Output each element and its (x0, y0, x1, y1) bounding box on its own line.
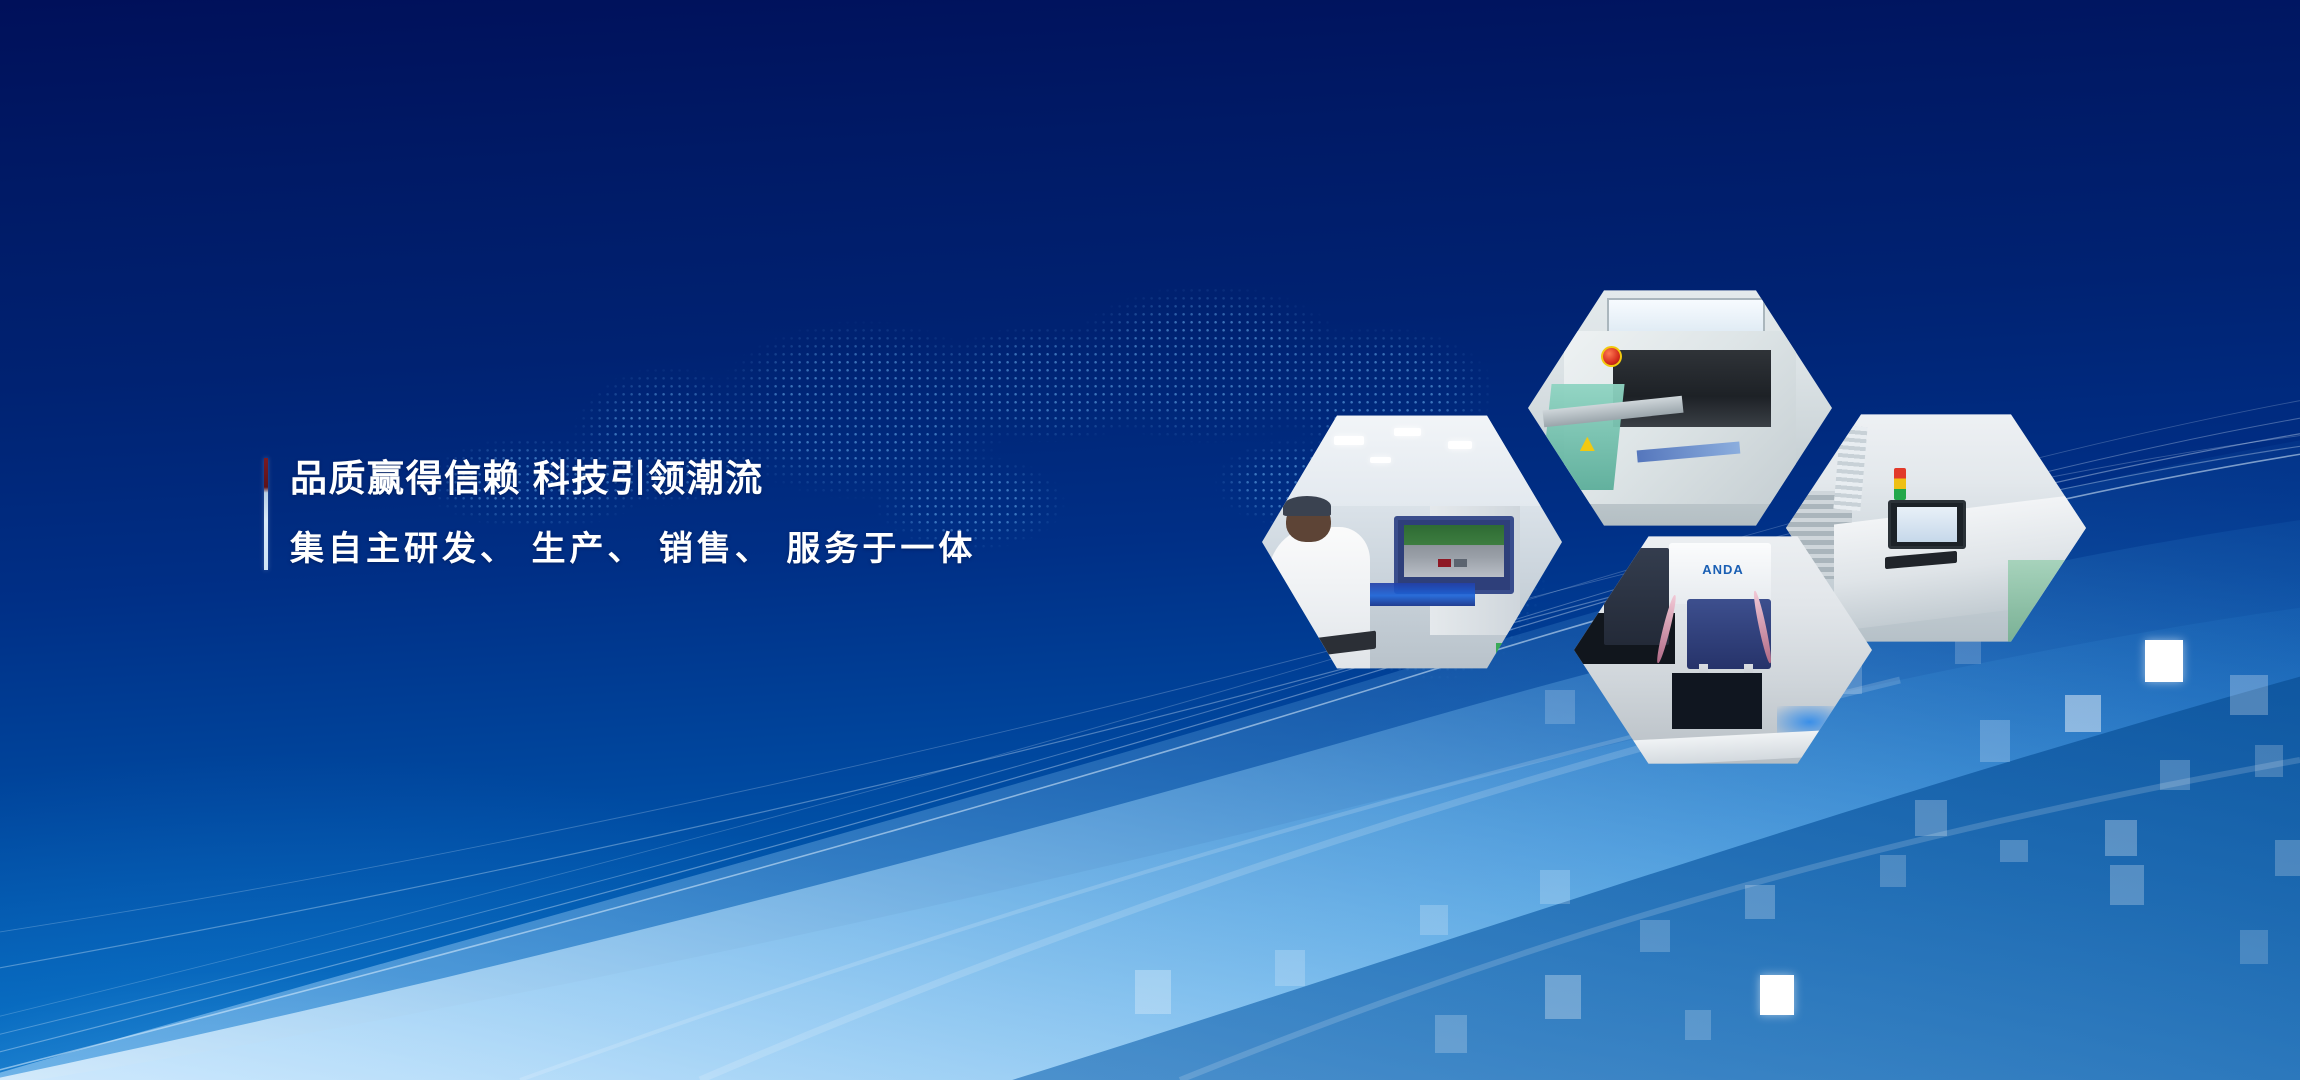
green-component-tray (1496, 643, 1538, 666)
floating-square (2110, 865, 2144, 905)
technician-cap (1283, 496, 1331, 517)
hero-banner: ANDA 品质赢得信赖 科技引领潮流 集自主研发、 生产、 销售、 服务于一体 (0, 0, 2300, 1080)
headline-block: 品质赢得信赖 科技引领潮流 集自主研发、 生产、 销售、 服务于一体 (264, 458, 976, 570)
ceiling-light (1370, 457, 1391, 463)
green-conveyor-guard (1541, 384, 1625, 490)
anda-brand-logo: ANDA (1687, 562, 1759, 583)
floating-square (2230, 675, 2268, 715)
aoi-screen (1404, 525, 1505, 577)
floating-square (1545, 690, 1575, 724)
floating-square (2275, 840, 2300, 876)
floating-square (1275, 950, 1305, 986)
green-floor-area (2008, 560, 2086, 644)
hex-photo-smt-stencil-printer-machine[interactable] (1528, 288, 1832, 528)
floating-square (1880, 855, 1906, 887)
work-plate (1672, 673, 1761, 729)
headline-line-2: 集自主研发、 生产、 销售、 服务于一体 (290, 532, 976, 566)
floating-square (1915, 800, 1947, 836)
ceiling-light (1448, 441, 1472, 449)
ceiling-light (1334, 436, 1364, 445)
floating-square (1435, 1015, 1467, 1053)
oven-monitor-screen (1897, 507, 1958, 543)
accent-bar (264, 458, 268, 570)
floating-square (1760, 975, 1794, 1015)
oven-control-monitor (1888, 500, 1966, 549)
floating-square (1640, 920, 1670, 952)
floating-square (2105, 820, 2137, 856)
photo-smt-printer (1528, 288, 1832, 528)
gantry-column (1604, 548, 1670, 645)
floating-square (1980, 720, 2010, 762)
screen-swatch (1454, 559, 1467, 566)
headline-lines: 品质赢得信赖 科技引领潮流 集自主研发、 生产、 销售、 服务于一体 (290, 458, 976, 570)
floating-square (2000, 840, 2028, 862)
wave-band-front (0, 600, 2300, 1080)
floating-square (2160, 760, 2190, 790)
floating-square (1955, 640, 1981, 664)
floating-square (2065, 695, 2101, 732)
floating-square (1745, 885, 1775, 919)
machine-table (1586, 729, 1848, 766)
exhaust-duct (1833, 425, 1867, 511)
aoi-monitor (1394, 516, 1514, 593)
floating-square (2145, 640, 2183, 682)
floating-square (2255, 745, 2283, 777)
floating-square (1540, 870, 1570, 904)
floating-square (1685, 1010, 1711, 1040)
ceiling-light (1394, 428, 1421, 436)
signal-tower-light (1894, 468, 1906, 500)
screen-swatch (1438, 559, 1451, 566)
hex-photo-operator-at-aoi-inspection-station[interactable] (1262, 413, 1562, 671)
floating-square (1420, 905, 1448, 935)
floating-square (2240, 930, 2268, 964)
cleanroom-ceiling (1262, 413, 1562, 506)
photo-aoi-inspection (1262, 413, 1562, 671)
floating-square (1135, 970, 1171, 1014)
floating-square (1545, 975, 1581, 1019)
headline-line-1: 品质赢得信赖 科技引领潮流 (290, 460, 976, 497)
